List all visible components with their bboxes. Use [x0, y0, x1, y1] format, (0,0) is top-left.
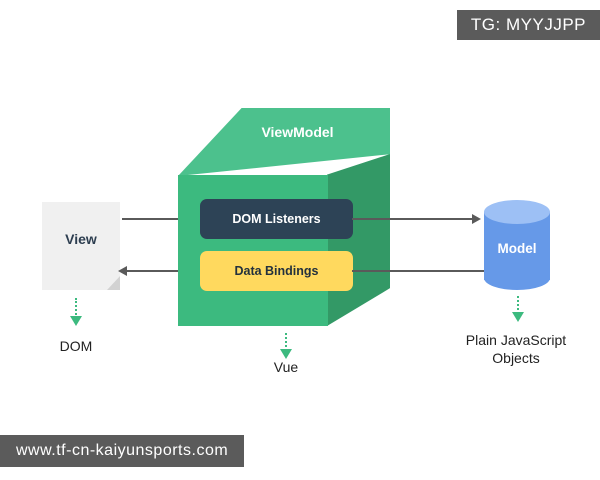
arrowhead-data-bindings-to-view	[118, 266, 127, 276]
connector-model-to-data-bindings	[352, 270, 484, 272]
annotation-arrow-dom-icon	[70, 316, 82, 326]
viewmodel-label: ViewModel	[215, 124, 380, 140]
connector-dom-listeners-to-model	[352, 218, 478, 220]
plain-js-objects-line-2: Objects	[492, 350, 539, 366]
diagram-canvas: TG: MYYJJPP View ViewModel DOM Listeners…	[0, 0, 600, 480]
model-label: Model	[484, 241, 550, 256]
view-node-label: View	[42, 231, 120, 247]
annotation-line-dom	[75, 298, 77, 318]
annotation-arrow-plain-js-objects-icon	[512, 312, 524, 322]
plain-js-objects-line-1: Plain JavaScript	[466, 332, 566, 348]
plain-js-objects-footnote-label: Plain JavaScript Objects	[446, 331, 586, 367]
dom-listeners-block[interactable]: DOM Listeners	[200, 199, 353, 239]
viewmodel-cube-side-face	[327, 154, 390, 326]
site-watermark-badge: www.tf-cn-kaiyunsports.com	[0, 435, 244, 467]
model-cylinder-top	[484, 200, 550, 224]
dom-footnote-label: DOM	[36, 337, 116, 355]
data-bindings-block[interactable]: Data Bindings	[200, 251, 353, 291]
telegram-watermark-badge: TG: MYYJJPP	[457, 10, 600, 40]
vue-footnote-label: Vue	[246, 358, 326, 376]
arrowhead-dom-listeners-to-model	[472, 214, 481, 224]
